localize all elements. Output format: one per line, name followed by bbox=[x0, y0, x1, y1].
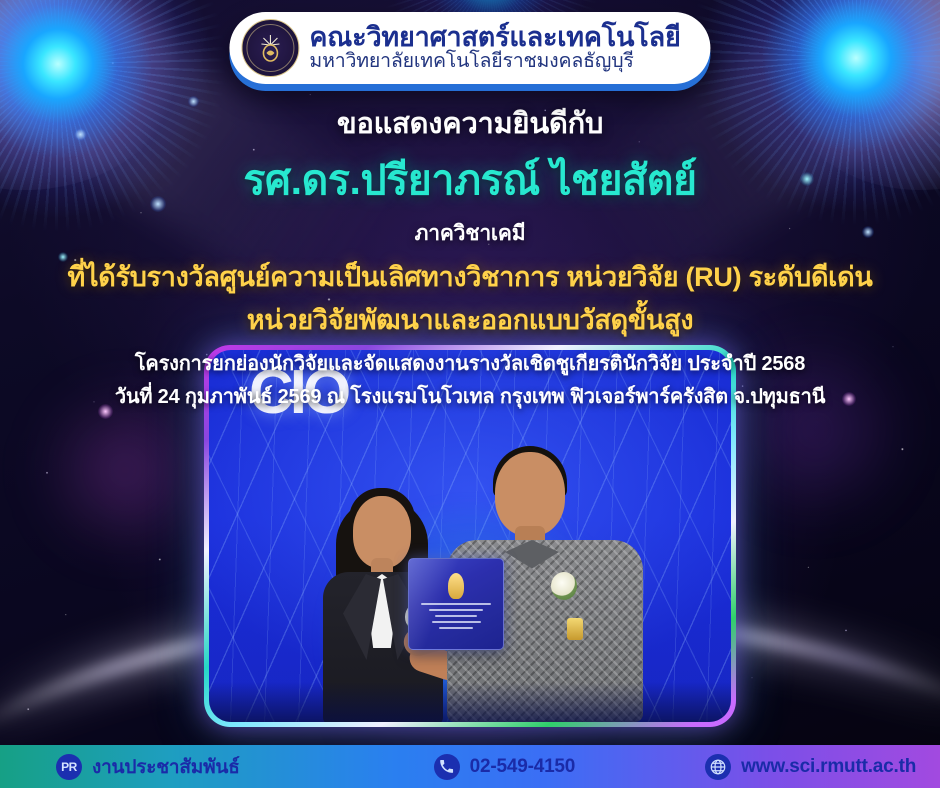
announcement-text-block: ขอแสดงความยินดีกับ รศ.ดร.ปรียาภรณ์ ไชยสั… bbox=[0, 100, 940, 412]
corsage-flower bbox=[551, 572, 577, 600]
congratulations-label: ขอแสดงความยินดีกับ bbox=[0, 100, 940, 146]
face bbox=[495, 452, 565, 536]
footer-item-phone[interactable]: 02-549-4150 bbox=[434, 754, 576, 780]
seal-emblem-glyph bbox=[255, 32, 285, 64]
project-label: โครงการยกย่องนักวิจัยและจัดแสดงงานรางวัล… bbox=[0, 347, 940, 379]
congratulation-poster: คณะวิทยาศาสตร์และเทคโนโลยี มหาวิทยาลัยเท… bbox=[0, 0, 940, 788]
stage-floor-shadow bbox=[209, 682, 731, 722]
pr-department-label: งานประชาสัมพันธ์ bbox=[92, 752, 240, 782]
award-title-line-1: ที่ได้รับรางวัลศูนย์ความเป็นเลิศทางวิชาก… bbox=[0, 255, 940, 298]
name-badge bbox=[567, 618, 583, 640]
globe-icon bbox=[705, 754, 731, 780]
faculty-header-banner: คณะวิทยาศาสตร์และเทคโนโลยี มหาวิทยาลัยเท… bbox=[229, 12, 710, 84]
pr-badge-label: PR bbox=[61, 760, 77, 774]
university-name: มหาวิทยาลัยเทคโนโลยีราชมงคลธัญบุรี bbox=[309, 52, 680, 72]
event-datetime-venue: วันที่ 24 กุมภาพันธ์ 2569 ณ โรงแรมโนโวเท… bbox=[0, 380, 940, 412]
phone-number-label: 02-549-4150 bbox=[470, 756, 576, 778]
globe-glyph bbox=[709, 758, 727, 776]
website-url-label: www.sci.rmutt.ac.th bbox=[741, 756, 916, 778]
plaque-crest-icon bbox=[448, 573, 464, 599]
crystal-award-plaque bbox=[408, 558, 504, 650]
honoree-name: รศ.ดร.ปรียาภรณ์ ไชยสัตย์ bbox=[0, 148, 940, 213]
rmutt-seal-icon bbox=[241, 19, 299, 77]
contact-footer-bar: PR งานประชาสัมพันธ์ 02-549-4150 www.sci.… bbox=[0, 745, 940, 788]
pr-badge-icon: PR bbox=[56, 754, 82, 780]
faculty-name: คณะวิทยาศาสตร์และเทคโนโลยี bbox=[309, 24, 680, 52]
department-label: ภาควิชาเคมี bbox=[0, 217, 940, 250]
header-text-group: คณะวิทยาศาสตร์และเทคโนโลยี มหาวิทยาลัยเท… bbox=[309, 24, 680, 72]
phone-icon bbox=[434, 754, 460, 780]
phone-glyph bbox=[439, 759, 454, 774]
award-title-line-2: หน่วยวิจัยพัฒนาและออกแบบวัสดุขั้นสูง bbox=[0, 298, 940, 341]
footer-item-website[interactable]: www.sci.rmutt.ac.th bbox=[705, 754, 916, 780]
plaque-engraved-text bbox=[421, 603, 491, 629]
footer-item-pr: PR งานประชาสัมพันธ์ bbox=[56, 752, 240, 782]
